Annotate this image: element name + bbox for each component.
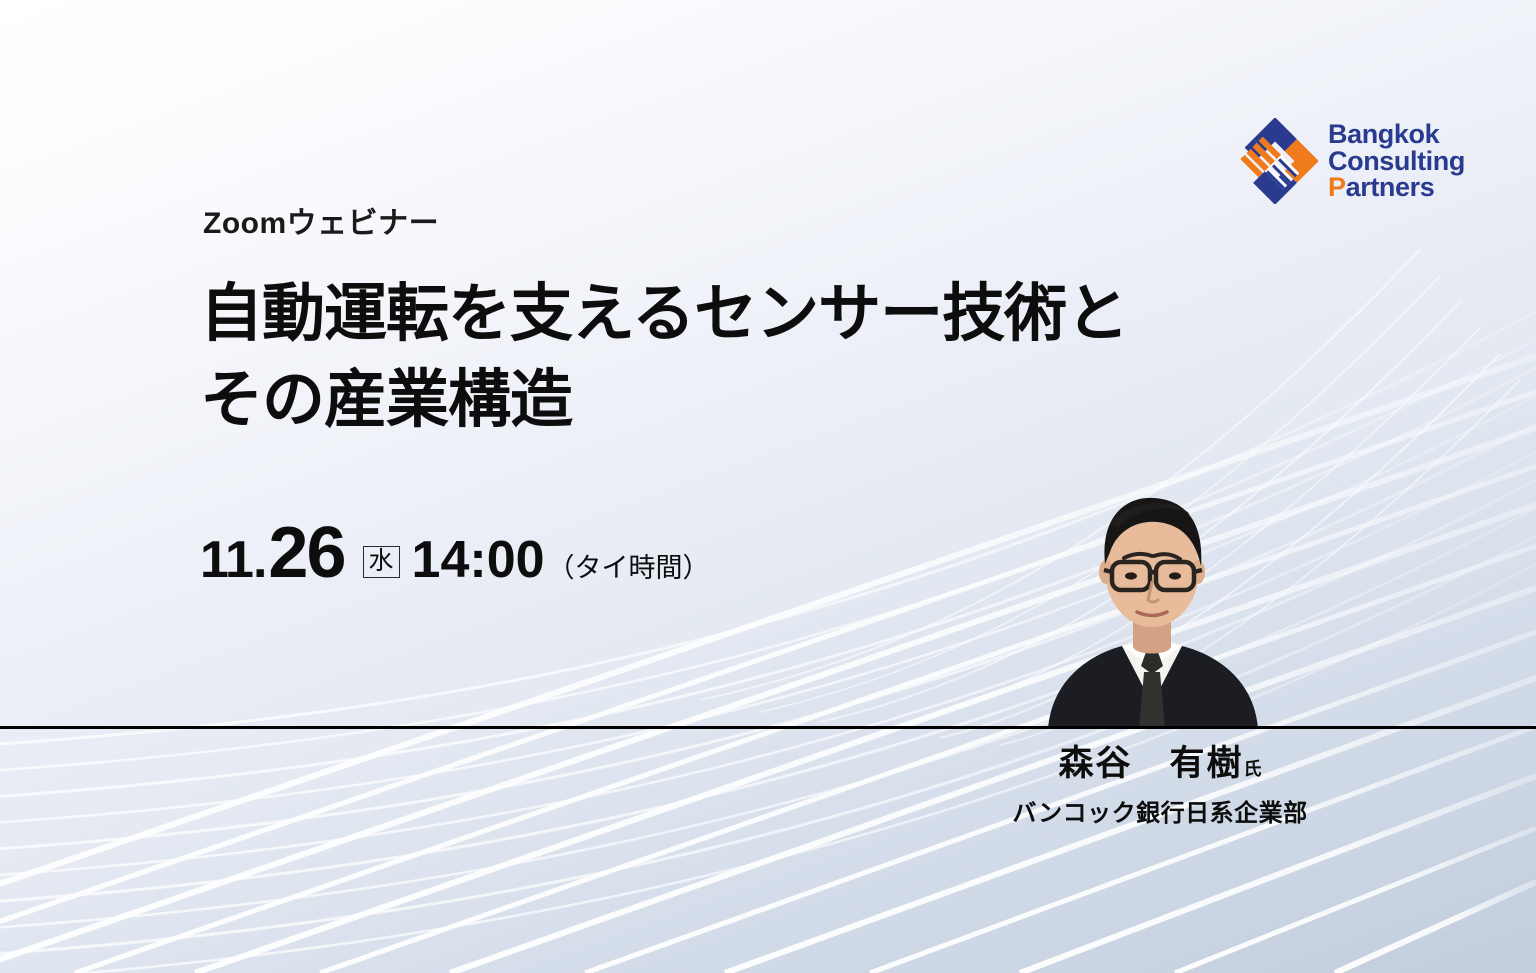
- page-title: 自動運転を支えるセンサー技術と その産業構造: [200, 272, 1380, 443]
- logo-line-bangkok: Bangkok: [1328, 121, 1465, 148]
- event-timezone: （タイ時間）: [548, 546, 710, 585]
- speaker-portrait-photo: [1018, 466, 1286, 729]
- event-day: 26: [268, 512, 344, 594]
- speaker-name-suffix: 氏: [1244, 759, 1262, 779]
- event-day-of-week-badge: 水: [363, 546, 400, 578]
- title-line-2: その産業構造: [200, 358, 1380, 444]
- webinar-announcement-slide: Bangkok Consulting Partners Zoomウェビナー 自動…: [0, 0, 1536, 973]
- event-format-label: Zoomウェビナー: [203, 198, 439, 242]
- speaker-info: 森谷 有樹氏 バンコック銀行日系企業部: [930, 744, 1390, 828]
- speaker-organization: バンコック銀行日系企業部: [930, 793, 1390, 828]
- brand-logo-wordmark: Bangkok Consulting Partners: [1328, 121, 1465, 201]
- speaker-name-text: 森谷 有樹: [1058, 744, 1243, 783]
- brand-logo: Bangkok Consulting Partners: [1232, 118, 1465, 204]
- speaker-name: 森谷 有樹氏: [930, 744, 1390, 784]
- logo-line-consulting: Consulting: [1328, 148, 1465, 175]
- handshake-diamond-icon: [1232, 118, 1318, 204]
- logo-line-partners: Partners: [1328, 174, 1465, 201]
- event-datetime: 11. 26 水 14:00 （タイ時間）: [200, 512, 710, 594]
- horizontal-divider: [0, 726, 1536, 729]
- event-time: 14:00: [412, 530, 545, 590]
- title-line-1: 自動運転を支えるセンサー技術と: [200, 272, 1380, 358]
- event-month: 11.: [200, 530, 266, 590]
